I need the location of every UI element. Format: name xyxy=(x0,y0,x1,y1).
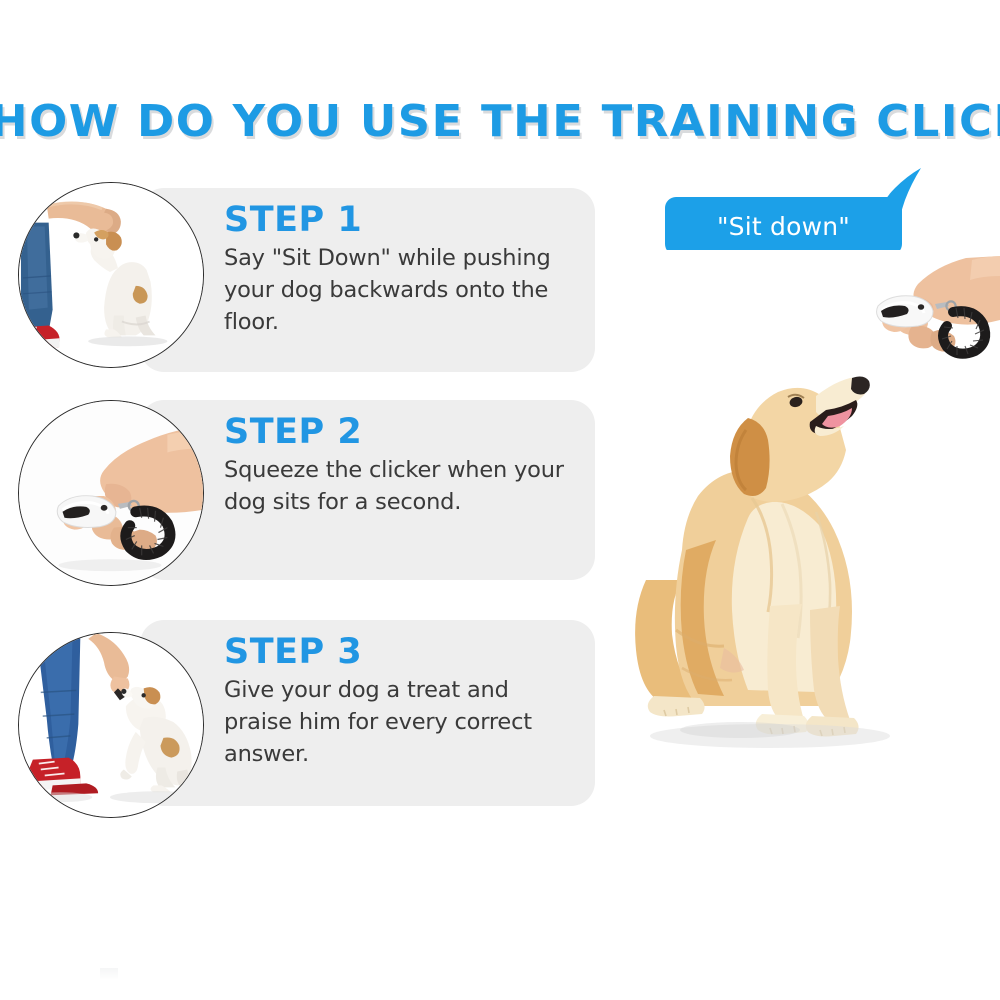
speech-bubble: "Sit down" xyxy=(665,197,902,255)
step-card-2-content: STEP 2 Squeeze the clicker when your dog… xyxy=(140,400,595,529)
speech-bubble-tail-icon xyxy=(877,168,937,220)
step-3-photo xyxy=(18,632,204,818)
step-3-body: Give your dog a treat and praise him for… xyxy=(224,675,569,771)
photo-treat-reward-terrier-illustration xyxy=(19,633,203,817)
infographic-root: HOW DO YOU USE THE TRAINING CLICKER? STE… xyxy=(0,0,1000,1000)
golden-retriever-with-clicker-illustration xyxy=(620,250,1000,810)
step-3-heading: STEP 3 xyxy=(224,634,569,671)
step-card-1: STEP 1 Say "Sit Down" while pushing your… xyxy=(140,188,595,372)
step-1-photo xyxy=(18,182,204,368)
speech-bubble-text: "Sit down" xyxy=(717,212,850,241)
page-title: HOW DO YOU USE THE TRAINING CLICKER? xyxy=(0,96,1000,147)
step-card-3: STEP 3 Give your dog a treat and praise … xyxy=(140,620,595,806)
step-card-3-content: STEP 3 Give your dog a treat and praise … xyxy=(140,620,595,781)
step-2-body: Squeeze the clicker when your dog sits f… xyxy=(224,455,569,519)
step-1-body: Say "Sit Down" while pushing your dog ba… xyxy=(224,243,569,339)
photo-hand-clicker-illustration xyxy=(19,401,203,585)
photo-hand-signal-terrier-illustration xyxy=(19,183,203,367)
step-2-heading: STEP 2 xyxy=(224,414,569,451)
step-1-heading: STEP 1 xyxy=(224,202,569,239)
step-card-1-content: STEP 1 Say "Sit Down" while pushing your… xyxy=(140,188,595,349)
step-card-2: STEP 2 Squeeze the clicker when your dog… xyxy=(140,400,595,580)
hero-illustration xyxy=(620,250,1000,810)
bottom-artifact xyxy=(100,968,118,980)
step-2-photo xyxy=(18,400,204,586)
